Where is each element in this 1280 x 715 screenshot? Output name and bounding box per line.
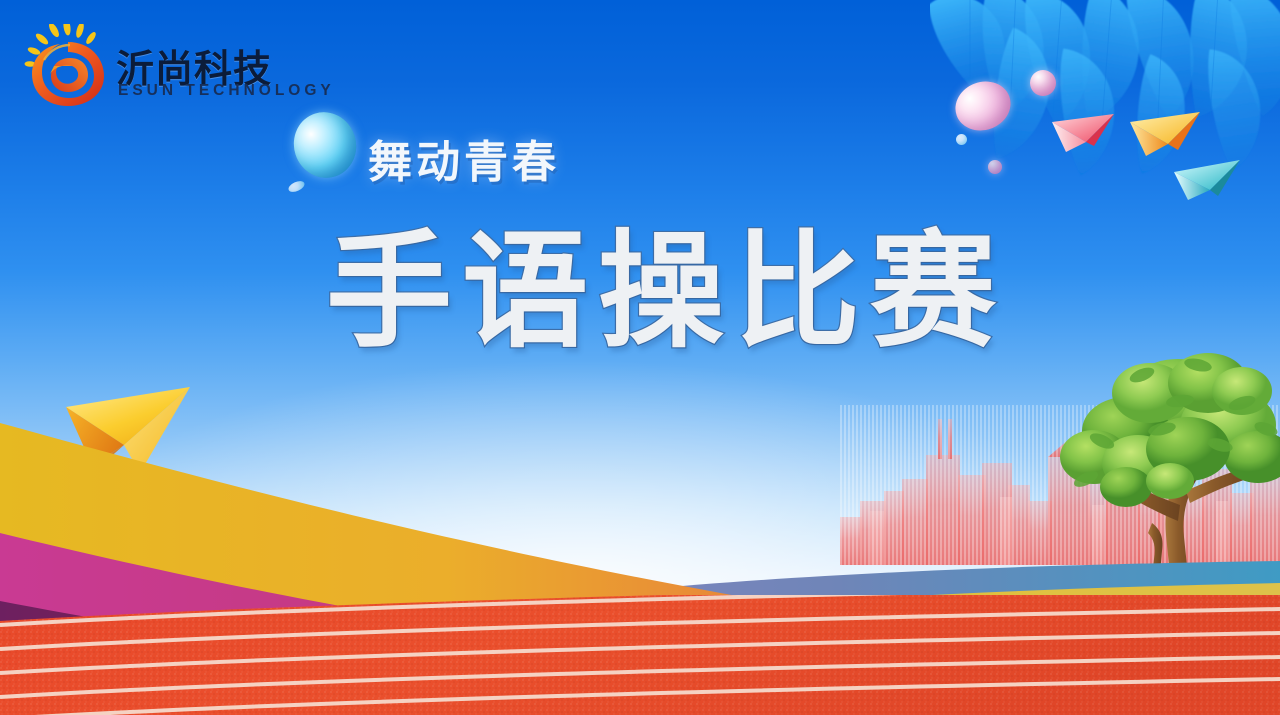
bubble-tiny-b xyxy=(956,134,967,145)
brand-logo[interactable]: 沂尚科技 ESUN TECHNOLOGY xyxy=(24,24,324,108)
bubble-tiny-c xyxy=(988,160,1002,174)
paper-plane-yellow-small-icon xyxy=(1128,110,1206,164)
brand-name-en: ESUN TECHNOLOGY xyxy=(118,82,335,100)
running-track xyxy=(0,595,1280,715)
poster-subtitle: 舞动青春 xyxy=(368,126,560,190)
paper-plane-teal-icon xyxy=(1172,158,1244,206)
poster-title-wrap: 手语操比赛 xyxy=(326,222,986,362)
bubble-pink-small xyxy=(1030,70,1056,96)
swirl-sun-logo-icon xyxy=(24,24,112,108)
page-title: 手语操比赛 xyxy=(326,222,986,362)
paper-plane-pink-icon xyxy=(1050,112,1118,158)
poster-canvas: 沂尚科技 ESUN TECHNOLOGY 舞动青春 手语操比赛 xyxy=(0,0,1280,715)
